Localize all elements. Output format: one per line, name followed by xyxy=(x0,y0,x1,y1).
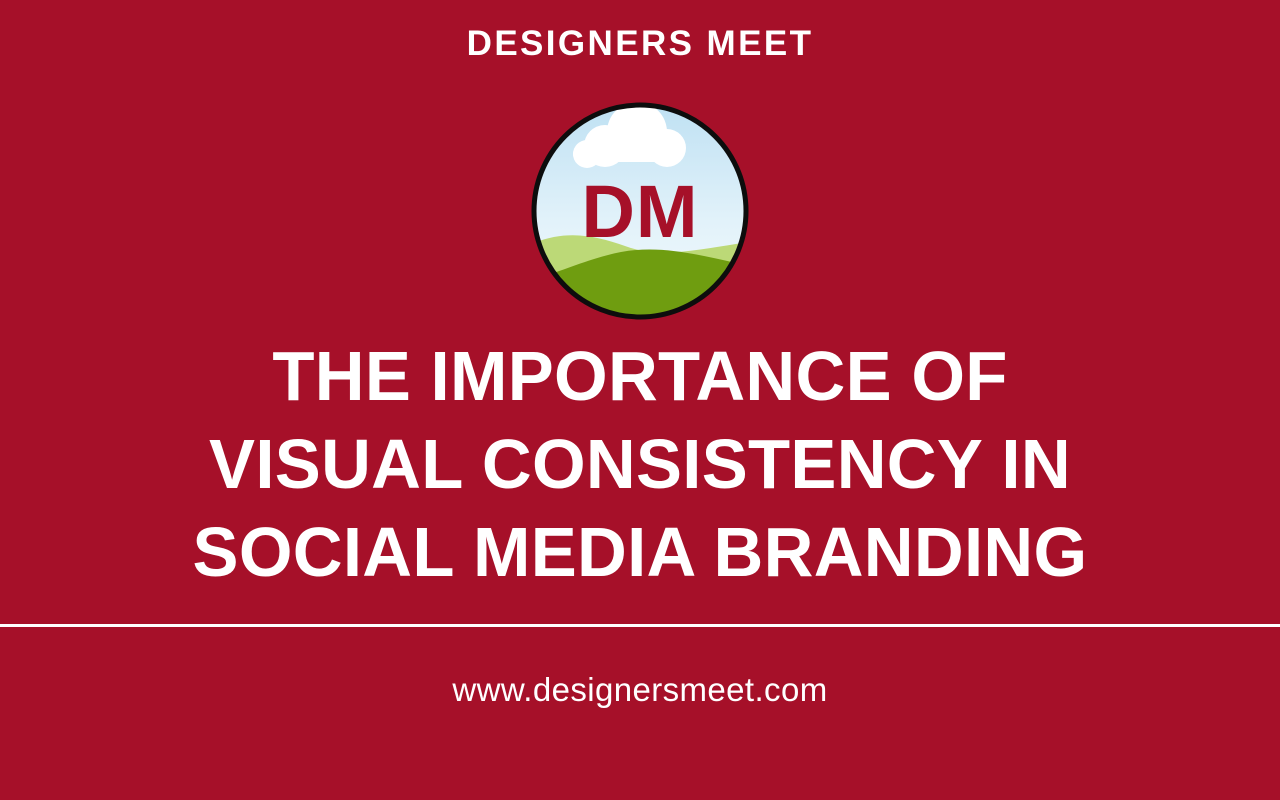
horizontal-divider xyxy=(0,624,1280,627)
footer-website-url: www.designersmeet.com xyxy=(0,668,1280,712)
brand-name-header: DESIGNERS MEET xyxy=(467,26,814,61)
logo-badge-graphic: DM xyxy=(529,100,751,322)
logo-monogram: DM xyxy=(581,170,698,253)
headline-line-3: SOCIAL MEDIA BRANDING xyxy=(10,508,1271,596)
headline-line-2: VISUAL CONSISTENCY IN xyxy=(10,420,1271,508)
social-media-banner-slide: DESIGNERS MEET xyxy=(0,0,1280,800)
logo-badge: DM xyxy=(529,100,751,322)
headline-title: THE IMPORTANCE OF VISUAL CONSISTENCY IN … xyxy=(10,332,1271,596)
headline-line-1: THE IMPORTANCE OF xyxy=(10,332,1271,420)
